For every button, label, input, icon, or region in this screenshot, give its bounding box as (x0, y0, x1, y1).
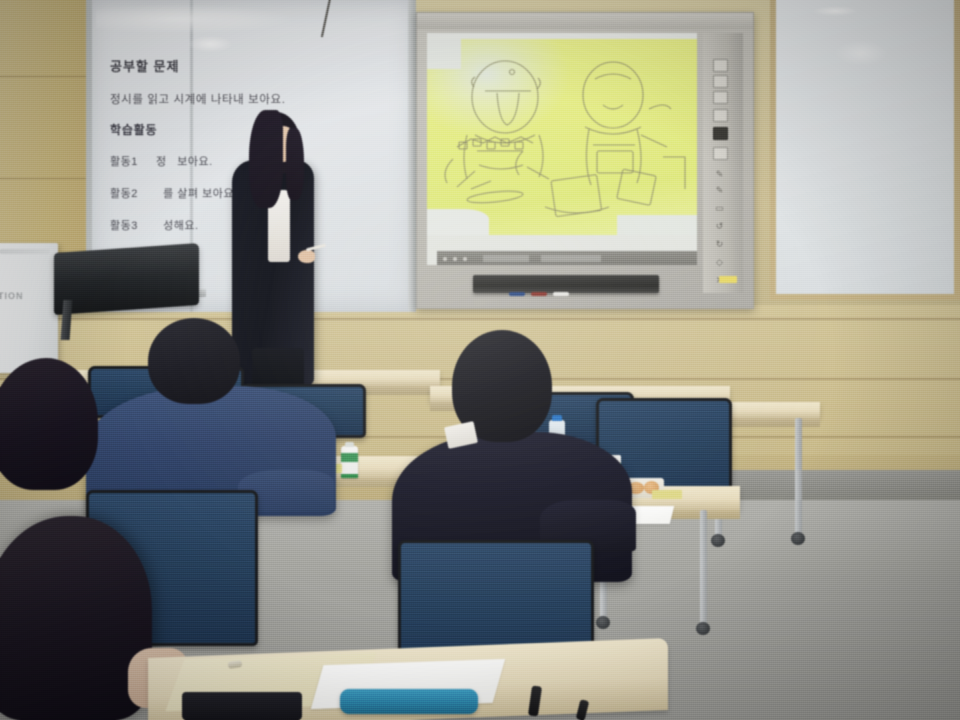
lesson-problem-line: 정시를 읽고 시계에 나타내 보아요. (110, 91, 405, 107)
whiteboard-highlight-2 (834, 40, 888, 66)
asset-sticker (719, 276, 737, 283)
iwb-drawing-canvas[interactable] (427, 39, 697, 235)
green-label-bottle (341, 446, 358, 478)
iwb-top-bezel (417, 13, 753, 29)
presenter-hair-side (286, 128, 304, 200)
desk-caster-2 (791, 532, 805, 545)
screen-edge-right (408, 0, 416, 312)
attendee-blue-jacket-head (148, 318, 240, 404)
page-icon[interactable] (713, 59, 728, 72)
ceiling-monitor-bracket (54, 243, 199, 315)
av-cabinet-label: TION (0, 291, 24, 301)
eraser-icon[interactable]: ▭ (713, 203, 726, 214)
pen-icon[interactable]: ✎ (713, 169, 726, 180)
yellow-sticky-note-2 (652, 490, 682, 499)
desk-caster-3 (596, 616, 610, 629)
activity-3-num: 활동3 (110, 217, 156, 233)
activity-2-num: 활동2 (110, 185, 156, 201)
attendee-ff-left-head (0, 358, 98, 490)
select-icon[interactable] (713, 109, 728, 122)
cabinet-lip (0, 249, 50, 254)
iwb-display[interactable] (427, 33, 697, 265)
desk-leg-2 (795, 418, 802, 536)
lesson-title: 공부할 문제 (110, 56, 405, 75)
right-whiteboard-panel (770, 0, 960, 300)
av-cabinet: TION (0, 243, 58, 373)
screen-glare (96, 4, 296, 34)
interactive-whiteboard[interactable]: ✎ ✎ ▭ ↺ ↻ ◇ ✕ (416, 12, 754, 309)
pen-icon-2[interactable]: ✎ (713, 185, 726, 196)
classroom-photo: 공부할 문제 정시를 읽고 시계에 나타내 보아요. 학습활동 활동1정 보아요… (0, 0, 960, 720)
text-glare-spot (188, 36, 232, 52)
iwb-toolbar-strip[interactable]: ✎ ✎ ▭ ↺ ↻ ◇ ✕ (703, 33, 743, 293)
activity-3-text: 성해요. (156, 220, 199, 232)
redo-icon[interactable]: ↻ (713, 239, 726, 250)
shape-icon[interactable]: ◇ (713, 257, 726, 268)
teal-pencil-case (340, 689, 478, 714)
red-marker[interactable] (531, 292, 547, 296)
desk-caster-1 (711, 534, 725, 547)
window-icon[interactable] (713, 147, 728, 160)
desk-leg-4 (700, 510, 707, 628)
foreground-dark-object (182, 692, 302, 720)
presenter-hair-front (249, 110, 283, 208)
fill-black-icon[interactable] (713, 127, 728, 140)
page-icon-2[interactable] (713, 75, 728, 88)
activity-1-num: 활동1 (110, 153, 156, 169)
child-drawing-svg (427, 39, 697, 235)
undo-icon[interactable]: ↺ (713, 221, 726, 232)
activity-1-text: 정 보아요. (156, 156, 213, 168)
iwb-app-statusbar (437, 251, 697, 265)
activity-2-text: 를 살펴 보아요. (156, 188, 238, 200)
white-eraser[interactable] (553, 292, 569, 296)
wall-seam-1 (0, 318, 960, 320)
whiteboard-highlight-1 (812, 6, 858, 16)
page-icon-3[interactable] (713, 91, 728, 104)
marker-tray[interactable] (473, 275, 659, 293)
desk-caster-4 (696, 622, 710, 635)
presenter-hand (298, 250, 315, 263)
blue-marker[interactable] (509, 292, 525, 296)
